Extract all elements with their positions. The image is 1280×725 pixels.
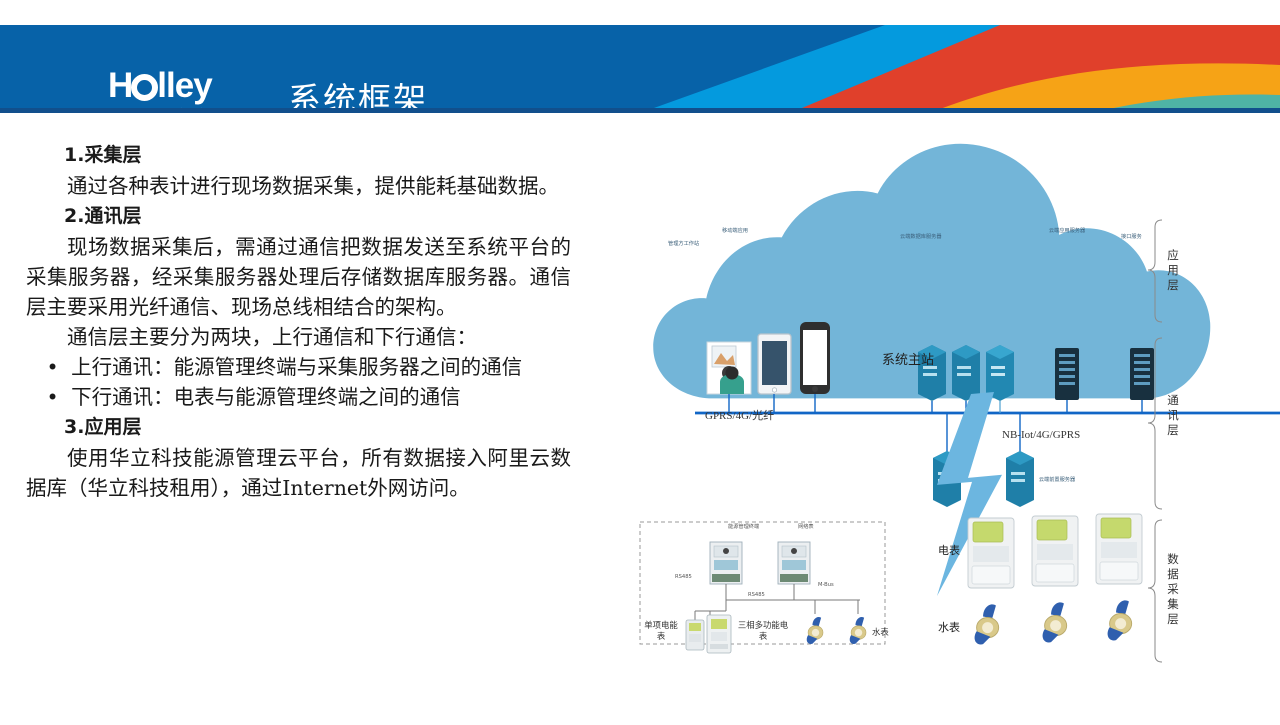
bullet-item-uplink: •上行通讯：能源管理终端与采集服务器之间的通信 xyxy=(26,352,571,382)
tablet-icon xyxy=(758,334,791,413)
api-service-server-icon xyxy=(1130,348,1154,413)
electric-meter-row xyxy=(968,514,1142,588)
label-uplink-media: GPRS/4G/光纤 xyxy=(705,407,774,423)
system-architecture-diagram: 管理方工作站 移动端应用 云端数据库服务器 云端应用服务器 接口服务 云端前置服… xyxy=(600,130,1280,720)
section-body-3: 通信层主要分为两块，上行通信和下行通信： xyxy=(26,322,571,352)
label-master-station: 系统主站 xyxy=(882,349,934,368)
bullet-text-uplink: 上行通讯：能源管理终端与采集服务器之间的通信 xyxy=(71,355,522,379)
header-underline xyxy=(0,108,1280,113)
section-body-2: 现场数据采集后，需通过通信把数据发送至系统平台的采集服务器，经采集服务器处理后存… xyxy=(26,232,571,322)
water-meter-icon-box-2 xyxy=(850,617,866,644)
label-electric-meters: 电表 xyxy=(938,542,960,558)
section-heading-2: 2.通讯层 xyxy=(26,201,571,232)
label-app-server: 云端应用服务器 xyxy=(1048,228,1086,234)
label-workstation: 管理方工作站 xyxy=(668,240,699,247)
holley-logo: Hlley T E C H 华 立 科 技 xyxy=(108,69,264,113)
label-wireless-media: NB-Iot/4G/GPRS xyxy=(1002,429,1080,441)
layer-label-data-collection: 数据采集层 xyxy=(1166,552,1180,627)
layer-label-communication: 通讯层 xyxy=(1166,393,1180,438)
label-front-server: 云端前置服务器 xyxy=(1036,477,1078,483)
label-water-meters: 水表 xyxy=(938,619,960,635)
logo-letter-h: H xyxy=(108,66,132,105)
three-phase-meter-icon xyxy=(707,615,731,653)
label-rs485-left: RS485 xyxy=(675,574,692,580)
logo-wordmark: Hlley xyxy=(108,69,264,103)
label-three-phase-meter: 三相多功能电表 xyxy=(736,620,790,642)
bullet-item-downlink: •下行通讯：电表与能源管理终端之间的通信 xyxy=(26,382,571,412)
slide-header: Hlley T E C H 华 立 科 技 系统框架 xyxy=(0,25,1280,113)
energy-management-terminal-icon xyxy=(710,542,742,600)
bullet-dot-icon: • xyxy=(26,382,71,412)
section-body-1: 通过各种表计进行现场数据采集，提供能耗基础数据。 xyxy=(26,171,571,201)
logo-letters-lley: lley xyxy=(157,66,211,105)
cloud-app-server-icon xyxy=(1055,348,1079,413)
label-rs485-mid: RS485 xyxy=(748,592,765,598)
layer-label-application: 应用层 xyxy=(1166,248,1180,293)
single-phase-meter-icon xyxy=(686,620,704,650)
bullet-dot-icon: • xyxy=(26,352,71,382)
water-meter-icon-box-1 xyxy=(807,617,823,644)
workstation-icon xyxy=(707,342,751,413)
smartphone-icon xyxy=(800,322,830,413)
label-terminal: 能源管理终端 xyxy=(728,523,759,530)
section-heading-1: 1.采集层 xyxy=(26,140,571,171)
network-meter-icon xyxy=(778,542,810,600)
water-meter-row xyxy=(975,600,1132,644)
section-body-4: 使用华立科技能源管理云平台，所有数据接入阿里云数据库（华立科技租用），通过Int… xyxy=(26,443,571,503)
label-db-server: 云端数据库服务器 xyxy=(900,233,942,240)
label-water-meter-box: 水表 xyxy=(872,626,889,638)
label-mbus: M-Bus xyxy=(818,582,834,588)
label-net-meter: 网络表 xyxy=(798,523,814,530)
bracket-data-collection-layer xyxy=(1148,520,1162,662)
section-heading-3: 3.应用层 xyxy=(26,412,571,443)
label-api-service: 接口服务 xyxy=(1121,233,1142,240)
bullet-text-downlink: 下行通讯：电表与能源管理终端之间的通信 xyxy=(71,385,461,409)
mbus-branch-lines xyxy=(815,600,858,614)
content-text-column: 1.采集层 通过各种表计进行现场数据采集，提供能耗基础数据。 2.通讯层 现场数… xyxy=(26,140,571,503)
page-title: 系统框架 xyxy=(288,73,428,113)
label-mobile-app: 移动端应用 xyxy=(722,227,748,234)
label-single-phase-meter: 单项电能表 xyxy=(644,620,678,642)
logo-ring-o xyxy=(131,74,158,101)
